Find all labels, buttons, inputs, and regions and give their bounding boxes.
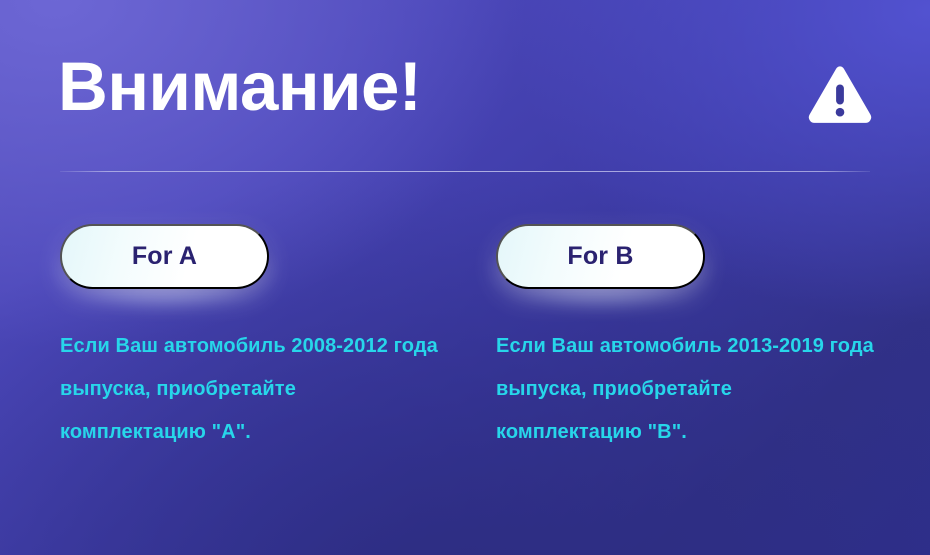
for-a-button-wrap: For A xyxy=(60,224,269,289)
for-b-button-wrap: For B xyxy=(496,224,705,289)
page-title: Внимание! xyxy=(58,52,421,121)
header-divider xyxy=(60,171,870,172)
for-a-button[interactable]: For A xyxy=(60,224,269,289)
warning-triangle-icon xyxy=(806,62,874,130)
attention-banner: Внимание! For A Если Ваш автомобиль 2008… xyxy=(0,0,930,555)
option-b-description: Если Ваш автомобиль 2013-2019 года выпус… xyxy=(496,325,881,454)
for-b-button[interactable]: For B xyxy=(496,224,705,289)
option-column-a: For A Если Ваш автомобиль 2008-2012 года… xyxy=(60,224,470,474)
option-a-description: Если Ваш автомобиль 2008-2012 года выпус… xyxy=(60,325,445,454)
option-column-b: For B Если Ваш автомобиль 2013-2019 года… xyxy=(496,224,906,474)
